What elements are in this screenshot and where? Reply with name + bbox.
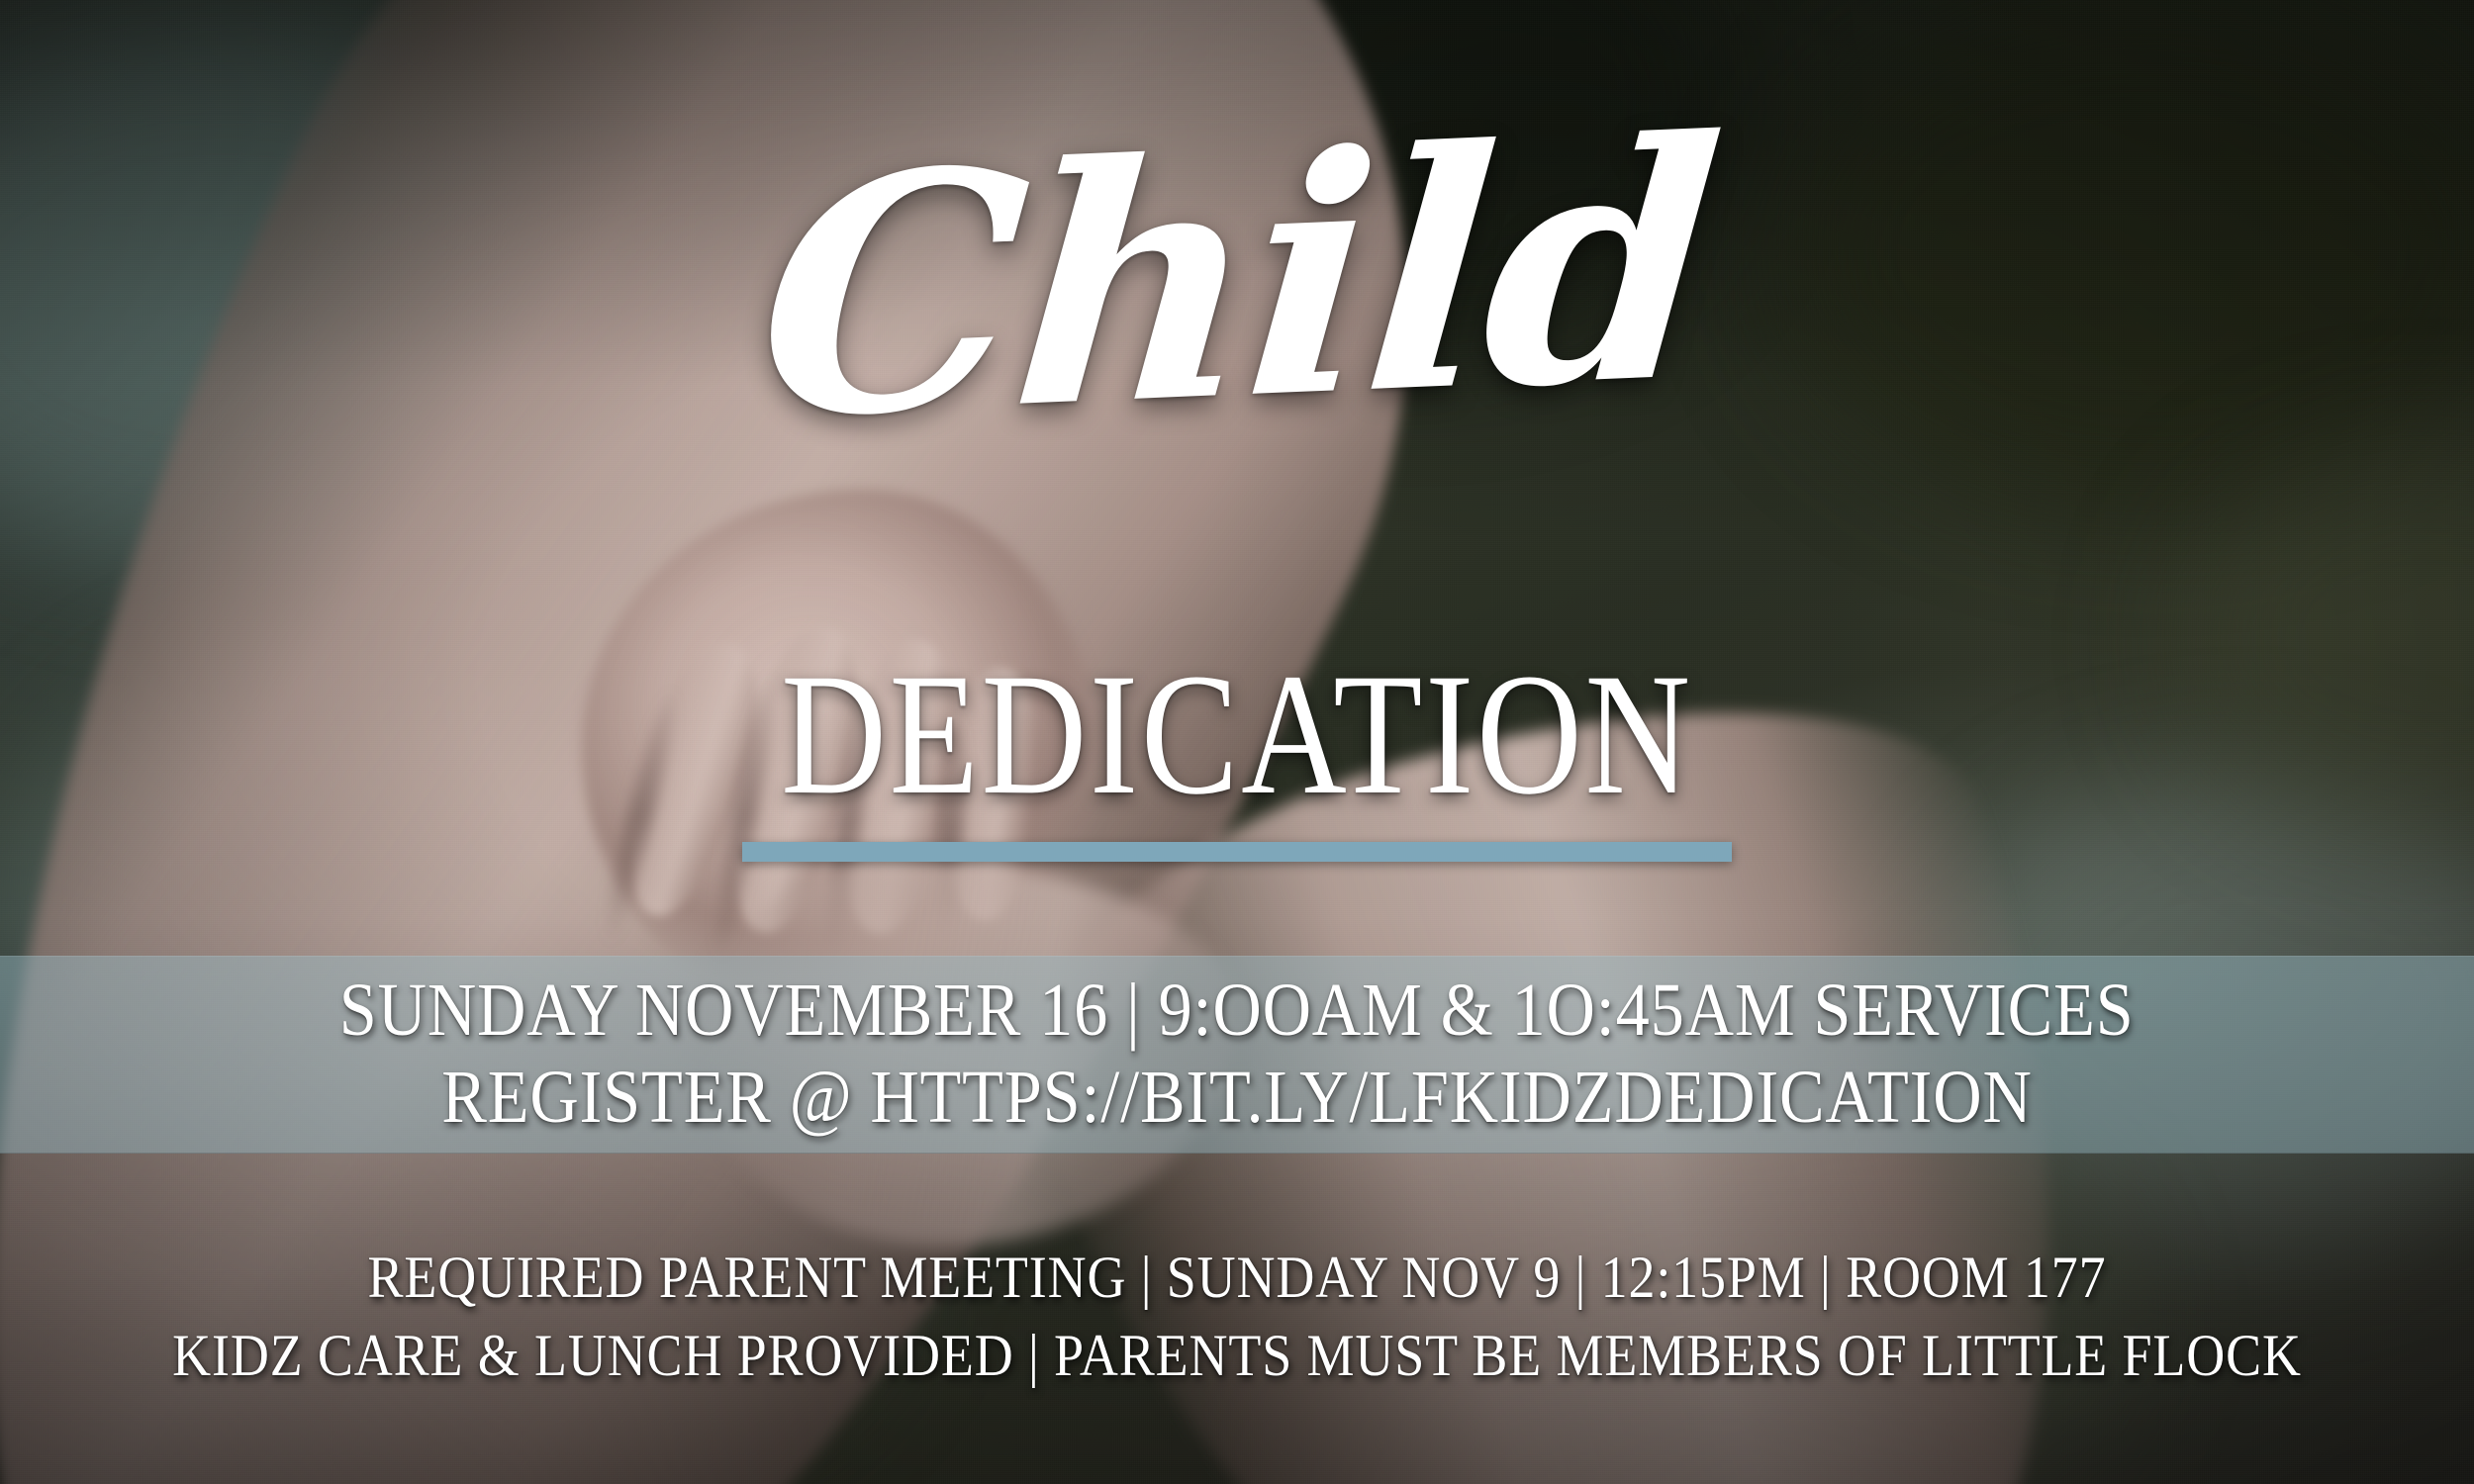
service-times-line: SUNDAY NOVEMBER 16 | 9:OOAM & 1O:45AM SE… bbox=[339, 973, 2135, 1050]
poster-content: Child DEDICATION SUNDAY NOVEMBER 16 | 9:… bbox=[0, 0, 2474, 1484]
title-script-child: Child bbox=[0, 65, 2474, 495]
title-block: DEDICATION bbox=[0, 653, 2474, 862]
parent-meeting-line: REQUIRED PARENT MEETING | SUNDAY NOV 9 |… bbox=[124, 1245, 2350, 1311]
title-dedication: DEDICATION bbox=[198, 653, 2276, 816]
membership-requirement-line: KIDZ CARE & LUNCH PROVIDED | PARENTS MUS… bbox=[124, 1323, 2350, 1389]
child-dedication-poster: Child DEDICATION SUNDAY NOVEMBER 16 | 9:… bbox=[0, 0, 2474, 1484]
registration-link-line[interactable]: REGISTER @ HTTPS://BIT.LY/LFKIDZDEDICATI… bbox=[441, 1060, 2032, 1137]
title-underline-rule bbox=[742, 842, 1732, 862]
info-band: SUNDAY NOVEMBER 16 | 9:OOAM & 1O:45AM SE… bbox=[0, 956, 2474, 1154]
footer-notes: REQUIRED PARENT MEETING | SUNDAY NOV 9 |… bbox=[0, 1245, 2474, 1389]
